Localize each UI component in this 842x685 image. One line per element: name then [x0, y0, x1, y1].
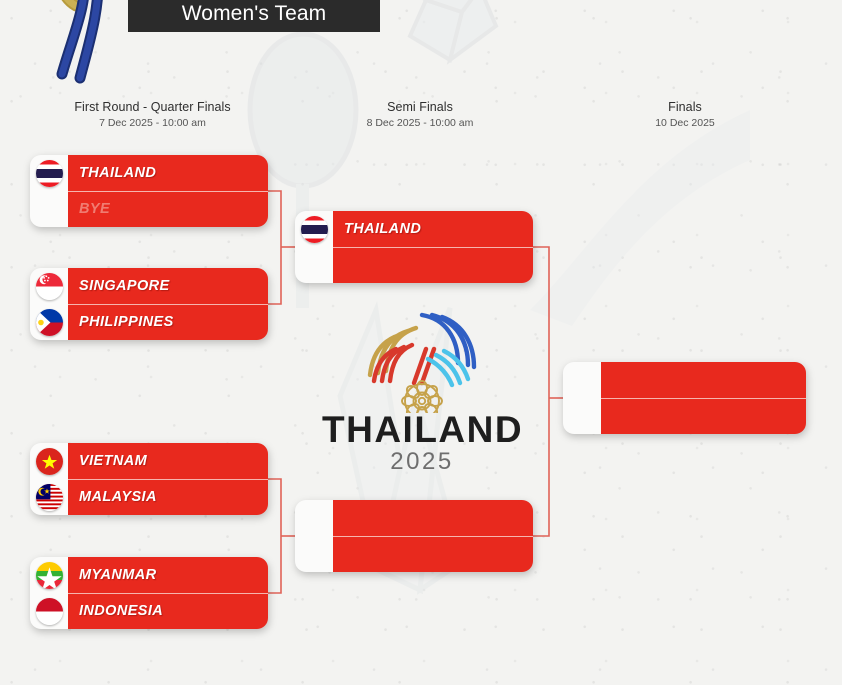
team-slot-bottom[interactable]: BYE	[68, 191, 268, 228]
round-name: First Round - Quarter Finals	[25, 100, 280, 114]
logo-year: 2025	[322, 450, 522, 474]
team-name: MYANMAR	[79, 567, 156, 583]
teams-column: THAILAND	[333, 211, 533, 283]
flag-column	[30, 557, 68, 629]
flag-column	[295, 211, 333, 283]
teams-column: MYANMAR INDONESIA	[68, 557, 268, 629]
flag-cell	[30, 191, 68, 227]
team-slot-bottom[interactable]: INDONESIA	[68, 593, 268, 630]
vietnam-flag-icon	[36, 448, 63, 475]
team-slot-bottom[interactable]	[333, 247, 533, 284]
match-card-qf2[interactable]: SINGAPORE PHILIPPINES	[30, 268, 268, 340]
myanmar-flag-icon	[36, 562, 63, 589]
flag-cell	[30, 557, 68, 593]
sea-games-logo-mark	[322, 305, 522, 413]
team-name: BYE	[79, 201, 110, 217]
logo-wordmark: THAILAND	[322, 411, 522, 448]
philippines-flag-icon	[36, 309, 63, 336]
team-slot-top[interactable]	[333, 500, 533, 536]
match-card-qf3[interactable]: VIETNAM MALAYSIA	[30, 443, 268, 515]
team-slot-top[interactable]: MYANMAR	[68, 557, 268, 593]
flag-cell	[295, 500, 333, 536]
page-title: Women's Team	[182, 2, 327, 26]
flag-cell	[30, 479, 68, 515]
team-name: PHILIPPINES	[79, 314, 174, 330]
team-name: THAILAND	[344, 221, 421, 237]
team-name: SINGAPORE	[79, 278, 170, 294]
team-slot-bottom[interactable]	[333, 536, 533, 573]
flag-cell	[30, 155, 68, 191]
round-header-first-round: First Round - Quarter Finals 7 Dec 2025 …	[25, 100, 280, 129]
team-slot-top[interactable]: SINGAPORE	[68, 268, 268, 304]
match-card-sf2[interactable]	[295, 500, 533, 572]
teams-column: THAILAND BYE	[68, 155, 268, 227]
event-logo: THAILAND 2025	[322, 305, 522, 485]
flag-cell	[30, 304, 68, 340]
flag-cell	[563, 362, 601, 398]
team-slot-top[interactable]: THAILAND	[333, 211, 533, 247]
thailand-flag-icon	[301, 216, 328, 243]
team-slot-bottom[interactable]: MALAYSIA	[68, 479, 268, 516]
round-header-finals: Finals 10 Dec 2025	[560, 100, 810, 129]
medal-ribbon-decoration	[18, 0, 138, 84]
match-card-qf1[interactable]: THAILAND BYE	[30, 155, 268, 227]
flag-column	[563, 362, 601, 434]
round-date: 7 Dec 2025 - 10:00 am	[25, 117, 280, 129]
round-date: 10 Dec 2025	[560, 117, 810, 129]
teams-column	[333, 500, 533, 572]
flag-column	[30, 155, 68, 227]
flag-cell	[30, 443, 68, 479]
team-name: INDONESIA	[79, 603, 163, 619]
team-slot-top[interactable]: VIETNAM	[68, 443, 268, 479]
round-date: 8 Dec 2025 - 10:00 am	[295, 117, 545, 129]
match-card-final[interactable]	[563, 362, 806, 434]
round-name: Semi Finals	[295, 100, 545, 114]
flag-column	[30, 443, 68, 515]
flag-column	[30, 268, 68, 340]
teams-column: VIETNAM MALAYSIA	[68, 443, 268, 515]
round-name: Finals	[560, 100, 810, 114]
team-name: MALAYSIA	[79, 489, 157, 505]
team-slot-top[interactable]: THAILAND	[68, 155, 268, 191]
teams-column: SINGAPORE PHILIPPINES	[68, 268, 268, 340]
team-slot-bottom[interactable]: PHILIPPINES	[68, 304, 268, 341]
singapore-flag-icon	[36, 273, 63, 300]
match-card-sf1[interactable]: THAILAND	[295, 211, 533, 283]
flag-cell	[295, 536, 333, 572]
flag-cell	[295, 247, 333, 283]
teams-column	[601, 362, 806, 434]
flag-cell	[30, 268, 68, 304]
flag-cell	[295, 211, 333, 247]
match-card-qf4[interactable]: MYANMAR INDONESIA	[30, 557, 268, 629]
team-name: THAILAND	[79, 165, 156, 181]
team-slot-bottom[interactable]	[601, 398, 806, 435]
team-slot-top[interactable]	[601, 362, 806, 398]
indonesia-flag-icon	[36, 598, 63, 625]
flag-cell	[563, 398, 601, 434]
malaysia-flag-icon	[36, 484, 63, 511]
flag-cell	[30, 593, 68, 629]
page-title-chip: Women's Team	[128, 0, 380, 32]
flag-column	[295, 500, 333, 572]
team-name: VIETNAM	[79, 453, 147, 469]
round-header-semi-finals: Semi Finals 8 Dec 2025 - 10:00 am	[295, 100, 545, 129]
thailand-flag-icon	[36, 160, 63, 187]
